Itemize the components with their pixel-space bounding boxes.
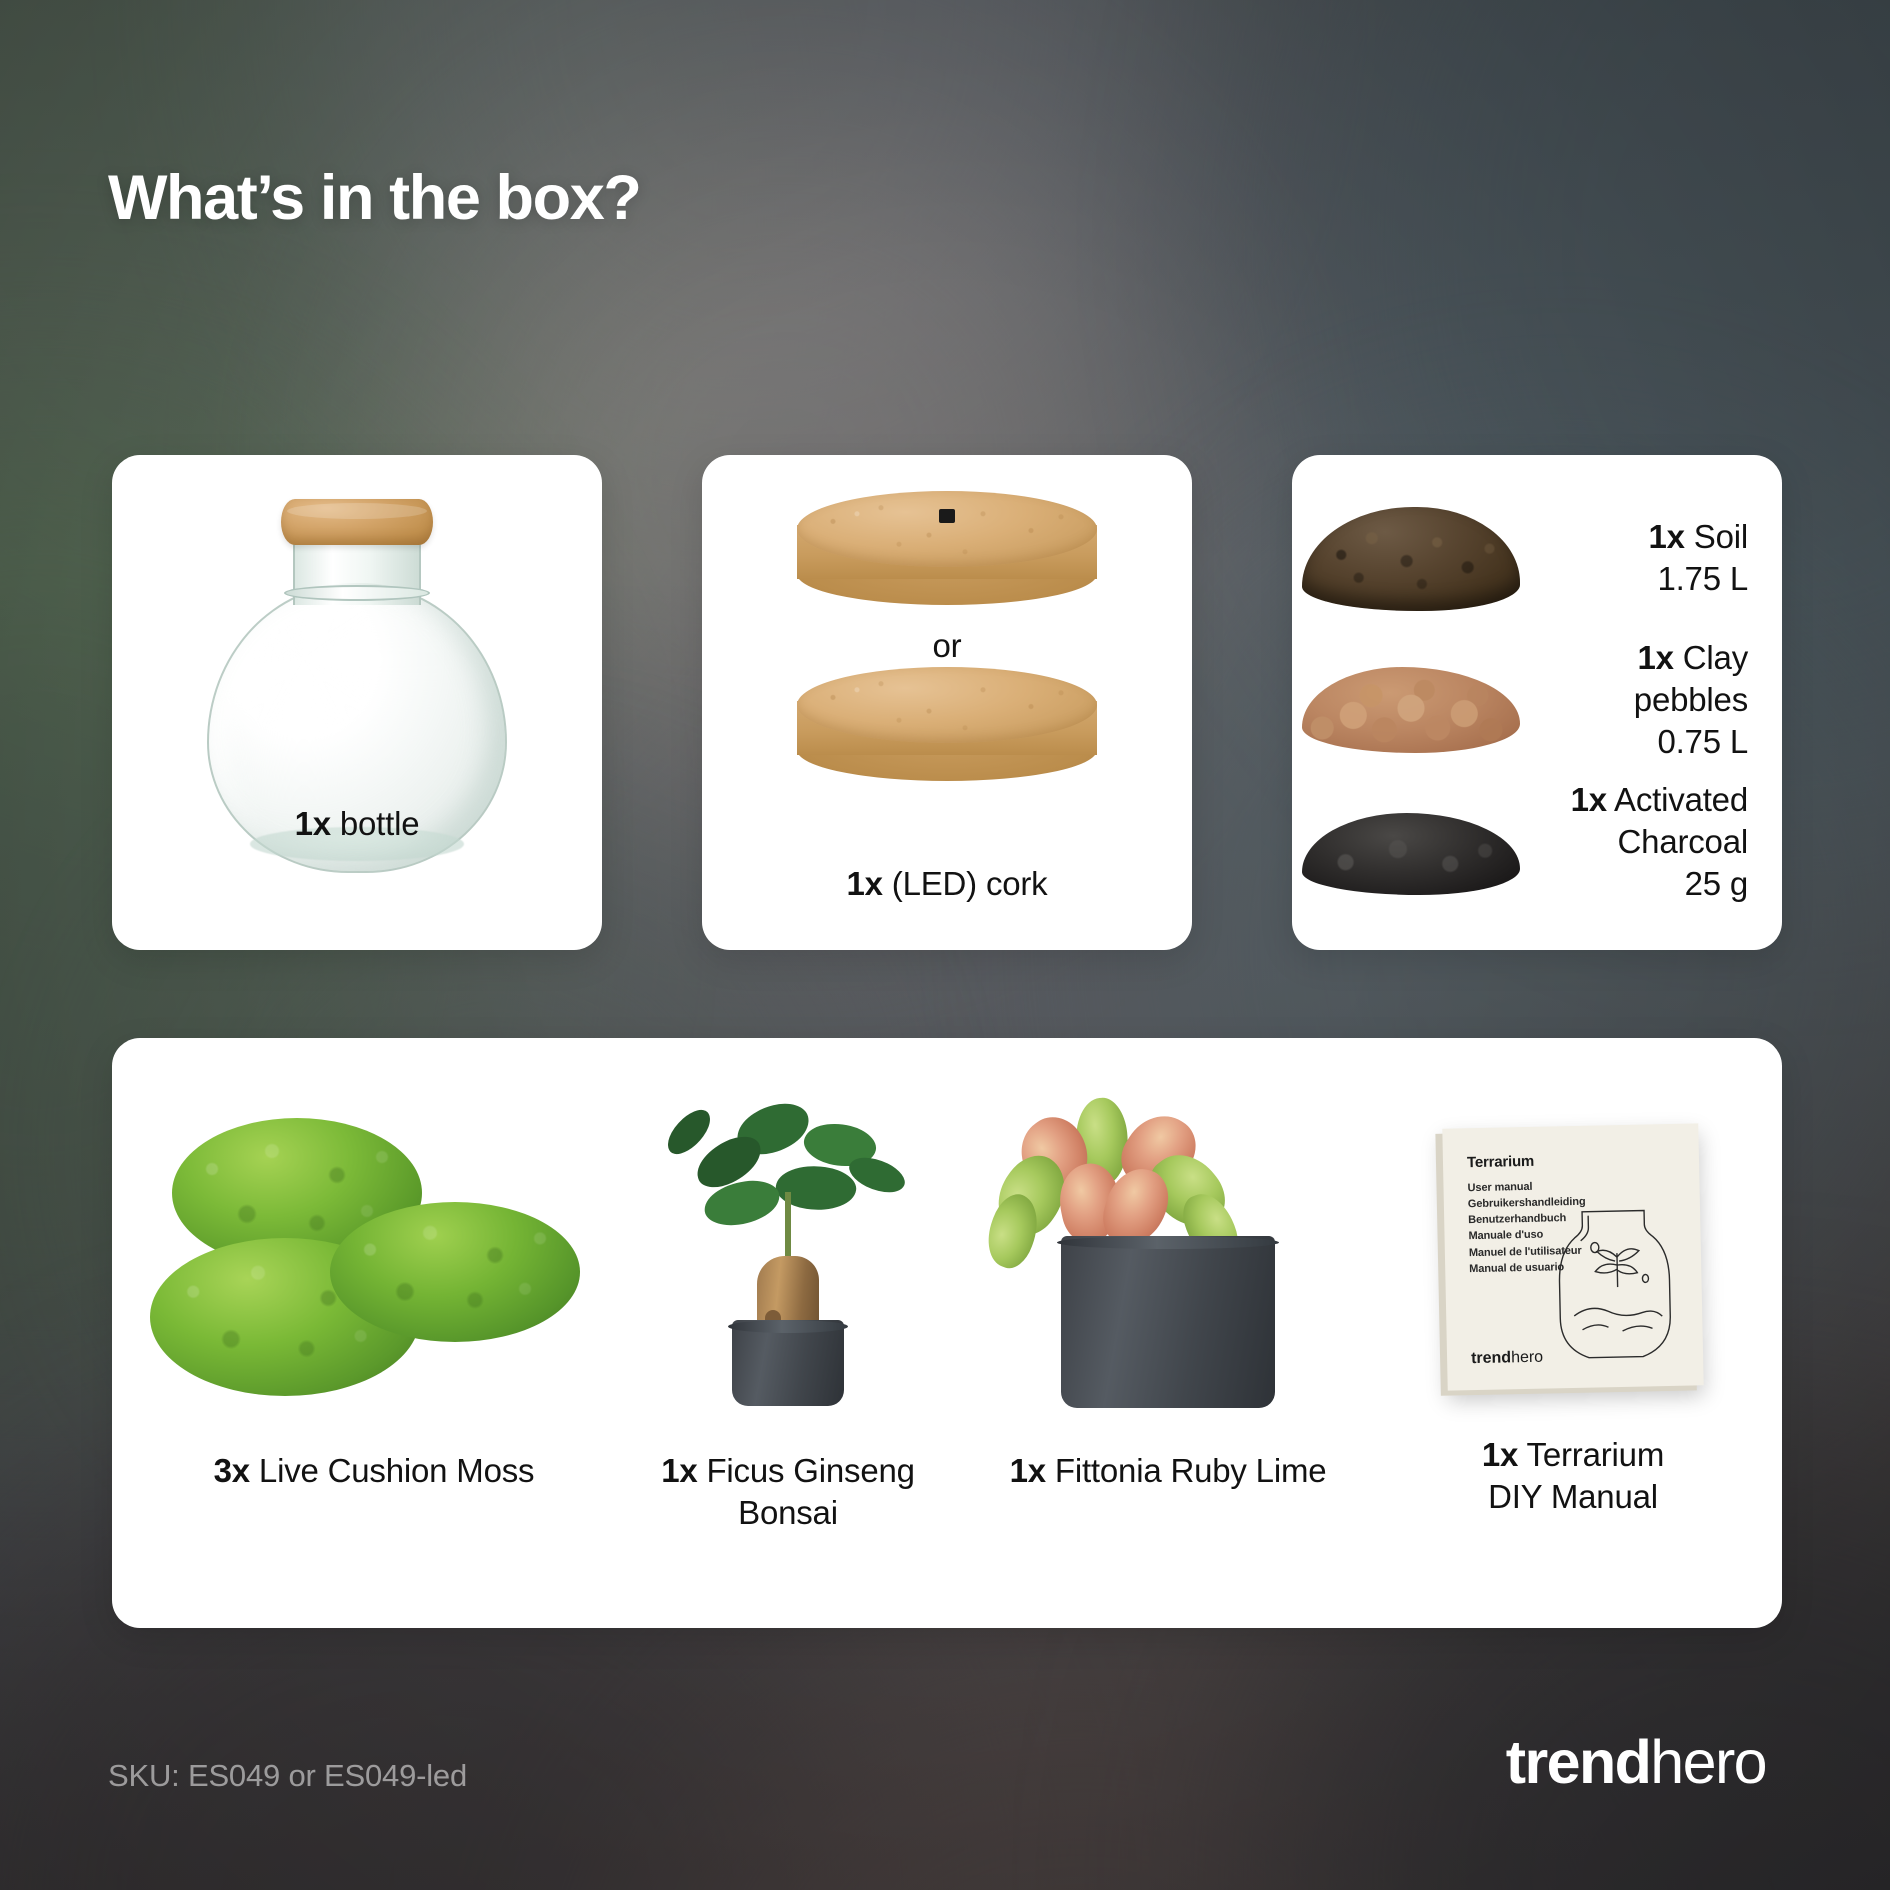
fittonia-caption: 1x Fittonia Ruby Lime bbox=[958, 1450, 1378, 1492]
clay-pebbles-icon bbox=[1292, 641, 1530, 759]
activated-charcoal-caption: 1x Activated Charcoal 25 g bbox=[1530, 779, 1782, 906]
media-row-soil: 1x Soil 1.75 L bbox=[1292, 499, 1782, 617]
sku-text: SKU: ES049 or ES049-led bbox=[108, 1758, 467, 1794]
cork-card: or 1x (LED) cork bbox=[702, 455, 1192, 950]
brand-logo-light: hero bbox=[1650, 1728, 1766, 1796]
bottle-caption: 1x bottle bbox=[112, 803, 602, 845]
fittonia-qty: 1x bbox=[1010, 1452, 1046, 1489]
activated-charcoal-icon bbox=[1292, 783, 1530, 901]
activated-charcoal-amount: 25 g bbox=[1530, 863, 1748, 905]
activated-charcoal-name-2: Charcoal bbox=[1530, 821, 1748, 863]
soil-name: Soil bbox=[1685, 518, 1748, 555]
booklet-title: Terrarium bbox=[1467, 1150, 1679, 1171]
plain-cork-illustration bbox=[797, 667, 1097, 775]
moss-caption: 3x Live Cushion Moss bbox=[134, 1450, 614, 1492]
plants-and-manual-card: 3x Live Cushion Moss bbox=[112, 1038, 1782, 1628]
soil-qty: 1x bbox=[1648, 518, 1684, 555]
bottle-qty: 1x bbox=[295, 805, 331, 842]
bonsai-qty: 1x bbox=[661, 1452, 697, 1489]
bottle-rim-icon bbox=[284, 585, 430, 601]
booklet-brand-light: hero bbox=[1511, 1349, 1543, 1367]
media-row-clay-pebbles: 1x Clay pebbles 0.75 L bbox=[1292, 637, 1782, 764]
clay-pebbles-name-2: pebbles bbox=[1530, 679, 1748, 721]
bonsai-caption: 1x Ficus Ginseng Bonsai bbox=[608, 1450, 968, 1534]
ficus-ginseng-bonsai-icon bbox=[608, 1090, 968, 1420]
soil-caption: 1x Soil 1.75 L bbox=[1530, 516, 1782, 600]
manual-name: Terrarium bbox=[1518, 1436, 1664, 1473]
bottle-illustration bbox=[112, 455, 602, 950]
clay-pebbles-caption: 1x Clay pebbles 0.75 L bbox=[1530, 637, 1782, 764]
bottle-card: 1x bottle bbox=[112, 455, 602, 950]
soil-amount: 1.75 L bbox=[1530, 558, 1748, 600]
soil-heap-icon bbox=[1292, 499, 1530, 617]
cork-or-separator: or bbox=[702, 627, 1192, 665]
cushion-moss-icon bbox=[134, 1090, 614, 1420]
media-row-activated-charcoal: 1x Activated Charcoal 25 g bbox=[1292, 779, 1782, 906]
clay-pebbles-amount: 0.75 L bbox=[1530, 721, 1748, 763]
booklet-brand-logo: trendhero bbox=[1471, 1349, 1543, 1369]
moss-qty: 3x bbox=[214, 1452, 250, 1489]
fittonia-ruby-lime-icon bbox=[958, 1090, 1378, 1420]
cork-led-hole-icon bbox=[939, 509, 955, 523]
bonsai-name-2: Bonsai bbox=[608, 1492, 968, 1534]
moss-name: Live Cushion Moss bbox=[250, 1452, 534, 1489]
activated-charcoal-name: Activated bbox=[1607, 781, 1748, 818]
fittonia-name: Fittonia Ruby Lime bbox=[1046, 1452, 1327, 1489]
cork-caption: 1x (LED) cork bbox=[702, 863, 1192, 905]
booklet-brand-bold: trend bbox=[1471, 1349, 1511, 1367]
diy-manual-icon: Terrarium User manual Gebruikershandleid… bbox=[1442, 1123, 1703, 1390]
cork-label: (LED) cork bbox=[883, 865, 1048, 902]
plant-cell-fittonia: 1x Fittonia Ruby Lime bbox=[958, 1038, 1378, 1628]
manual-qty: 1x bbox=[1482, 1436, 1518, 1473]
clay-pebbles-name: Clay bbox=[1674, 639, 1748, 676]
activated-charcoal-qty: 1x bbox=[1571, 781, 1607, 818]
bottle-cork-stopper-icon bbox=[281, 499, 433, 545]
clay-pebbles-qty: 1x bbox=[1638, 639, 1674, 676]
bonsai-name: Ficus Ginseng bbox=[698, 1452, 915, 1489]
led-cork-illustration bbox=[797, 491, 1097, 599]
plant-cell-bonsai: 1x Ficus Ginseng Bonsai bbox=[608, 1038, 968, 1628]
brand-logo-bold: trend bbox=[1506, 1728, 1651, 1796]
page-title: What’s in the box? bbox=[108, 165, 640, 231]
growing-media-card: 1x Soil 1.75 L 1x Clay pebbles 0.75 L 1x… bbox=[1292, 455, 1782, 950]
booklet-terrarium-line-drawing-icon bbox=[1542, 1202, 1693, 1373]
manual-caption: 1x Terrarium DIY Manual bbox=[1380, 1434, 1766, 1518]
brand-logo: trendhero bbox=[1506, 1732, 1766, 1793]
cork-qty: 1x bbox=[847, 865, 883, 902]
plant-cell-moss: 3x Live Cushion Moss bbox=[134, 1038, 614, 1628]
plant-cell-manual: Terrarium User manual Gebruikershandleid… bbox=[1380, 1038, 1766, 1628]
manual-name-2: DIY Manual bbox=[1380, 1476, 1766, 1518]
bottle-label: bottle bbox=[331, 805, 420, 842]
